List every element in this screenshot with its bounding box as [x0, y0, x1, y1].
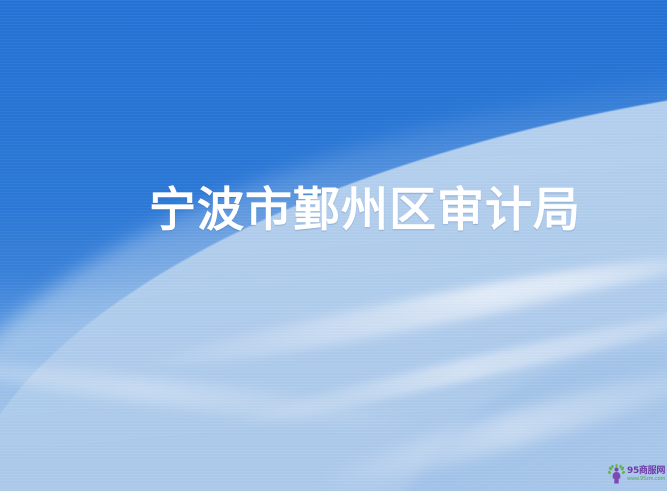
watermark-text: 95商服网 www.95zm.com — [627, 467, 665, 482]
watermark-url: www.95zm.com — [627, 477, 665, 482]
person-figure-icon — [608, 464, 625, 484]
watermark-brand: 95商服网 — [627, 467, 665, 476]
watermark: 95商服网 www.95zm.com — [608, 461, 666, 487]
page-title: 宁波市鄞州区审计局 — [149, 182, 581, 240]
site-banner: 宁波市鄞州区审计局 95商服网 www.95zm.com — [0, 0, 667, 491]
